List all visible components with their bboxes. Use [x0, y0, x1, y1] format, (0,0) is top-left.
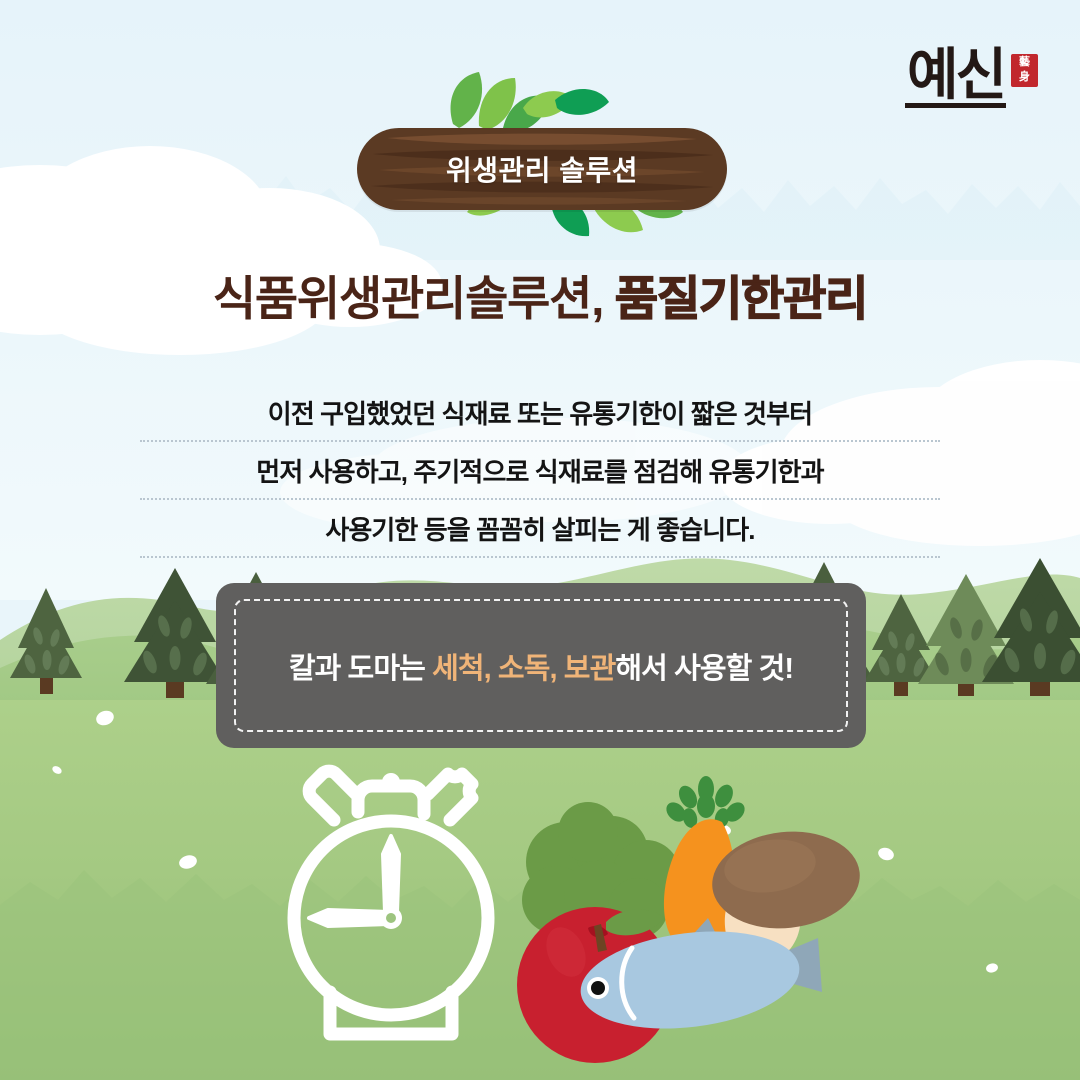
tip-callout-box: 칼과 도마는 세척, 소독, 보관해서 사용할 것!: [216, 583, 866, 748]
callout-text: 칼과 도마는 세척, 소독, 보관해서 사용할 것!: [289, 645, 793, 687]
seal-char-2: 身: [1011, 70, 1038, 85]
apple-icon: [517, 907, 673, 1063]
clock-center-icon: [380, 907, 402, 929]
body-line: 이전 구입했었던 식재료 또는 유통기한이 짧은 것부터: [140, 384, 940, 442]
seal-stamp-icon: 藝 身: [1011, 54, 1038, 87]
ground: [0, 700, 1080, 1080]
pine-tree-icon: [864, 594, 938, 696]
fish-icon: [575, 918, 822, 1040]
banner-label: 위생관리 솔루션: [357, 128, 727, 210]
infographic-card: 위생관리 솔루션 예신 藝 身 식품위생관리솔루션, 품질기한관리 이전 구입했…: [0, 0, 1080, 1080]
body-text-block: 이전 구입했었던 식재료 또는 유통기한이 짧은 것부터 먼저 사용하고, 주기…: [140, 384, 940, 558]
clock-knob-icon: [382, 773, 400, 791]
callout-highlight: 세척, 소독, 보관: [432, 653, 615, 685]
carrot-leaves: [663, 776, 749, 829]
mushroom-icon: [707, 825, 864, 964]
alarm-clock-icon: [294, 771, 488, 1034]
body-line: 사용기한 등을 꼼꼼히 살피는 게 좋습니다.: [140, 500, 940, 558]
broccoli-icon: [522, 802, 680, 948]
petal-icon: [51, 708, 999, 1014]
logo-text: 예신: [905, 48, 1006, 108]
title-part-light: 식품위생관리솔루션,: [213, 272, 615, 325]
page-title: 식품위생관리솔루션, 품질기한관리: [0, 272, 1080, 327]
callout-dashed-border: 칼과 도마는 세척, 소독, 보관해서 사용할 것!: [234, 599, 848, 732]
pine-tree-icon: [10, 588, 82, 694]
carrot-icon: [663, 776, 749, 962]
clock-hands-icon: [309, 836, 399, 926]
title-part-strong: 품질기한관리: [615, 272, 867, 325]
log-banner: 위생관리 솔루션: [357, 106, 727, 224]
seal-char-1: 藝: [1011, 55, 1038, 70]
grass-silhouette: [0, 870, 1080, 1080]
brand-logo[interactable]: 예신 藝 身: [905, 48, 1038, 108]
callout-suffix: 해서 사용할 것!: [615, 653, 793, 685]
body-line: 먼저 사용하고, 주기적으로 식재료를 점검해 유통기한과: [140, 442, 940, 500]
callout-prefix: 칼과 도마는: [289, 653, 432, 685]
